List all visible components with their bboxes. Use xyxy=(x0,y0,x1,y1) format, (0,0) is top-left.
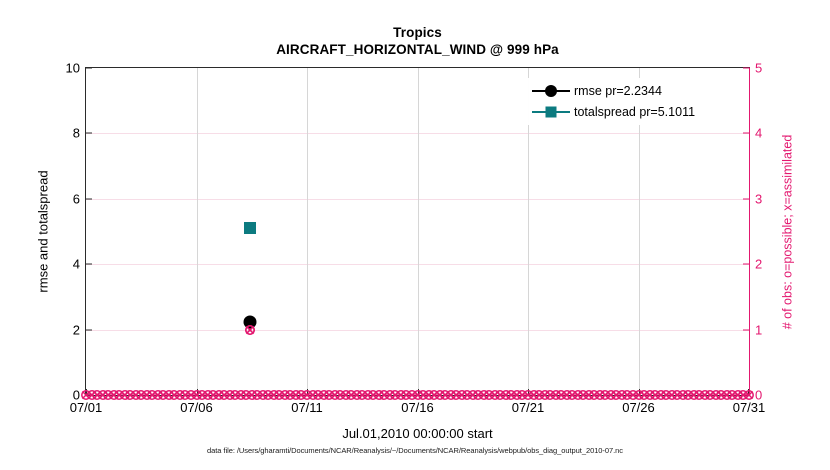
y-axis-tick-label-right: 2 xyxy=(755,257,762,272)
y-axis-label-right: # of obs: o=possible; x=assimilated xyxy=(778,67,796,396)
x-axis-tick-label: 07/16 xyxy=(401,400,434,415)
chart-figure: Tropics AIRCRAFT_HORIZONTAL_WIND @ 999 h… xyxy=(0,0,830,470)
y-axis-tick-label-left: 8 xyxy=(73,126,80,141)
data-point-obs-count xyxy=(244,324,255,335)
y-axis-tick-right xyxy=(743,329,749,330)
y-axis-tick-label-left: 6 xyxy=(73,191,80,206)
x-axis-tick-label: 07/21 xyxy=(512,400,545,415)
data-point-totalspread xyxy=(244,222,256,234)
x-axis-tick-label: 07/31 xyxy=(733,400,766,415)
x-axis-tick-label: 07/01 xyxy=(70,400,103,415)
x-axis-tick-label: 07/11 xyxy=(291,400,323,415)
legend-totalspread-marker xyxy=(532,104,570,120)
y-axis-tick-label-left: 10 xyxy=(66,61,80,76)
y-axis-label-left-text: rmse and totalspread xyxy=(36,170,51,292)
y-axis-tick-label-right: 3 xyxy=(755,191,762,206)
y-axis-tick-right xyxy=(743,133,749,134)
x-axis-label: Jul.01,2010 00:00:00 start xyxy=(85,426,750,441)
chart-subtitle: AIRCRAFT_HORIZONTAL_WIND @ 999 hPa xyxy=(85,41,750,59)
y-axis-tick-left xyxy=(86,68,92,69)
obs-marker-baseline xyxy=(744,390,755,401)
y-axis-tick-right xyxy=(743,264,749,265)
y-axis-tick-left xyxy=(86,264,92,265)
y-axis-tick-right xyxy=(743,198,749,199)
y-axis-tick-left xyxy=(86,329,92,330)
gridline-vertical xyxy=(197,68,198,395)
y-axis-tick-label-left: 2 xyxy=(73,322,80,337)
y-axis-tick-label-right: 1 xyxy=(755,322,762,337)
y-axis-tick-right xyxy=(743,68,749,69)
chart-title-block: Tropics AIRCRAFT_HORIZONTAL_WIND @ 999 h… xyxy=(85,24,750,59)
legend-item-totalspread[interactable]: totalspread pr=5.1011 xyxy=(532,101,695,122)
square-marker-icon xyxy=(546,106,557,117)
y-axis-tick-label-left: 4 xyxy=(73,257,80,272)
legend-rmse-label: rmse pr=2.2344 xyxy=(574,84,662,98)
y-axis-tick-left xyxy=(86,198,92,199)
x-axis-tick-label: 07/06 xyxy=(180,400,213,415)
y-axis-tick-label-right: 4 xyxy=(755,126,762,141)
y-axis-label-right-text: # of obs: o=possible; x=assimilated xyxy=(780,134,794,329)
y-axis-label-left: rmse and totalspread xyxy=(34,67,52,396)
y-axis-tick-left xyxy=(86,133,92,134)
chart-title: Tropics xyxy=(85,24,750,41)
y-axis-tick-label-right: 5 xyxy=(755,61,762,76)
circle-marker-icon xyxy=(545,85,557,97)
chart-legend: rmse pr=2.2344 totalspread pr=5.1011 xyxy=(528,78,701,125)
legend-rmse-marker xyxy=(532,83,570,99)
legend-item-rmse[interactable]: rmse pr=2.2344 xyxy=(532,80,695,101)
gridline-vertical xyxy=(307,68,308,395)
legend-totalspread-label: totalspread pr=5.1011 xyxy=(574,105,695,119)
data-file-footnote: data file: /Users/gharamti/Documents/NCA… xyxy=(0,446,830,455)
x-axis-tick-label: 07/26 xyxy=(622,400,655,415)
gridline-vertical xyxy=(418,68,419,395)
